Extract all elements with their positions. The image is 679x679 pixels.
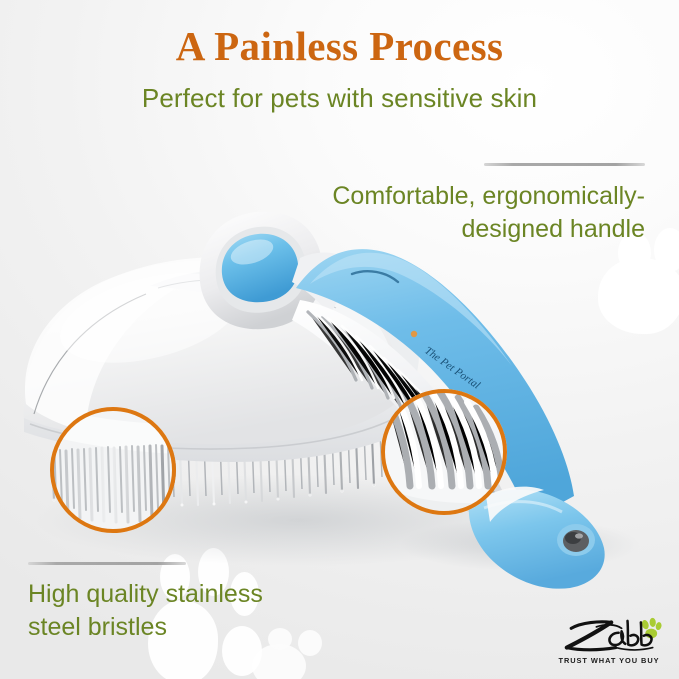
divider-handle-callout [484, 163, 645, 166]
callout-handle-line2: designed handle [225, 213, 645, 246]
hanging-hole [557, 524, 595, 556]
callout-bristles: High quality stainless steel bristles [28, 578, 358, 643]
zabba-script-svg [553, 615, 665, 655]
callout-bristles-line1: High quality stainless [28, 578, 358, 611]
divider-bristles-callout [28, 562, 186, 565]
callout-handle: Comfortable, ergonomically- designed han… [225, 180, 645, 245]
callout-handle-line1: Comfortable, ergonomically- [225, 180, 645, 213]
page-title: A Painless Process [0, 22, 679, 70]
page-subtitle: Perfect for pets with sensitive skin [0, 83, 679, 114]
brand-logo: TRUST WHAT YOU BUY [553, 615, 665, 665]
brand-wordmark [553, 615, 665, 655]
brand-tagline: TRUST WHAT YOU BUY [553, 656, 665, 665]
grip-zoom-circle [381, 389, 507, 515]
zabba-script-path [567, 621, 653, 650]
callout-bristles-line2: steel bristles [28, 611, 358, 644]
infographic-canvas: The Pet Portal [0, 0, 679, 679]
bristles-zoom-circle [50, 407, 176, 533]
